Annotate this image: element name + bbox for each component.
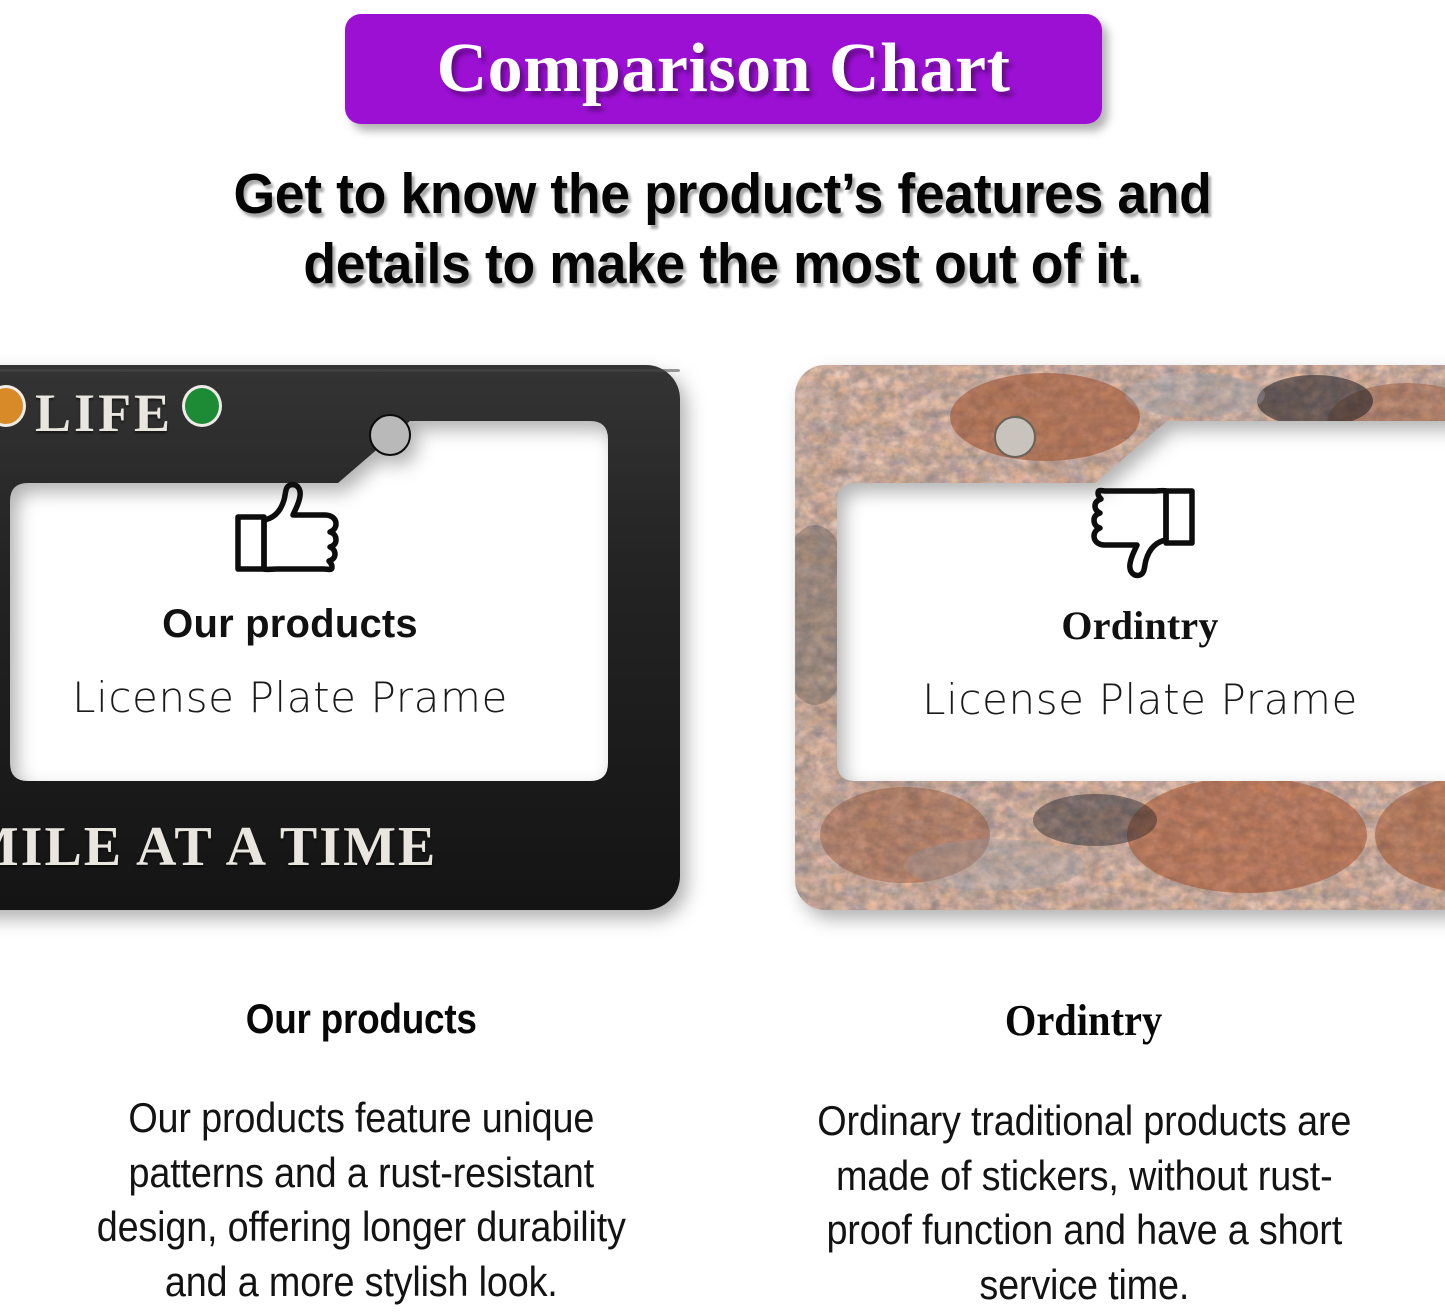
comparison-column-ordintry: Ordintry Ordinary traditional products a…	[723, 995, 1445, 1312]
thumbs-up-icon	[231, 480, 349, 580]
our-products-heading: Our products	[40, 995, 683, 1043]
our-products-heading-text: Our products	[246, 995, 477, 1043]
ordintry-heading-text: Ordintry	[1005, 995, 1162, 1046]
our-products-description: Our products feature unique patterns and…	[40, 1091, 683, 1309]
ordinary-product-name: Ordintry	[840, 602, 1440, 649]
comparison-columns: Our products Our products feature unique…	[0, 995, 1445, 1312]
our-product-subtitle: License Plate Prame	[0, 673, 580, 722]
our-product-name: Our products	[0, 602, 580, 647]
comparison-column-our-products: Our products Our products feature unique…	[0, 995, 723, 1312]
ordintry-description-text: Ordinary traditional products are made o…	[795, 1094, 1373, 1312]
ordinary-product-subtitle: License Plate Prame	[840, 675, 1440, 724]
ordintry-description: Ordinary traditional products are made o…	[763, 1094, 1406, 1312]
ordintry-heading: Ordintry	[763, 995, 1406, 1046]
our-product-plate-content: Our products License Plate Prame	[0, 480, 580, 722]
thumbs-down-icon	[1081, 480, 1199, 580]
ordinary-product-plate-content: Ordintry License Plate Prame	[840, 480, 1440, 724]
our-products-description-text: Our products feature unique patterns and…	[72, 1091, 650, 1309]
